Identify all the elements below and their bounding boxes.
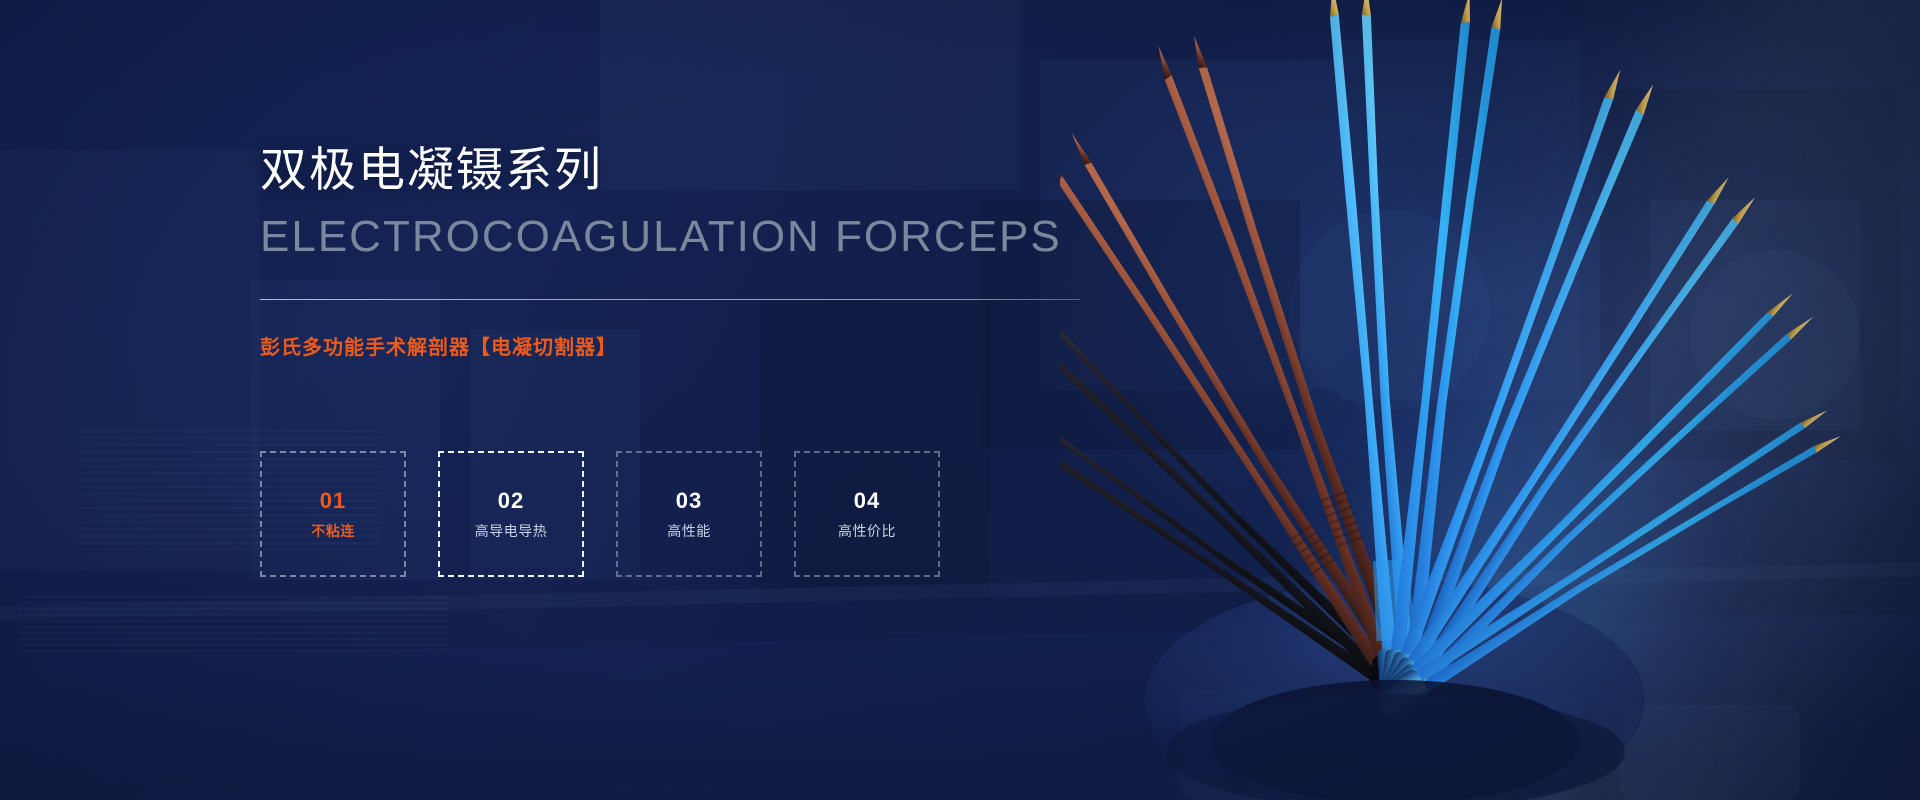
product-hero-banner: 双极电凝镊系列 ELECTROCOAGULATION FORCEPS 彭氏多功能… [0,0,1920,800]
feature-number: 04 [854,490,880,512]
feature-label: 高性价比 [838,524,896,538]
forceps-illustration [1060,0,1920,800]
feature-number: 03 [676,490,702,512]
feature-number: 01 [320,490,346,512]
feature-item-01[interactable]: 01 不粘连 [260,451,406,577]
page-subtitle-english: ELECTROCOAGULATION FORCEPS [260,215,1062,259]
product-tagline: 彭氏多功能手术解剖器【电凝切割器】 [260,338,617,358]
feature-label: 高导电导热 [475,524,548,538]
page-title: 双极电凝镊系列 [260,146,603,193]
divider-line [260,299,1080,300]
product-image-forceps-fan [1060,0,1920,800]
feature-number: 02 [498,490,524,512]
feature-list: 01 不粘连 02 高导电导热 03 高性能 04 高性价比 [260,451,940,577]
feature-item-03[interactable]: 03 高性能 [616,451,762,577]
feature-item-04[interactable]: 04 高性价比 [794,451,940,577]
feature-label: 不粘连 [311,524,355,538]
hero-text-content: 双极电凝镊系列 ELECTROCOAGULATION FORCEPS 彭氏多功能… [260,0,1160,800]
feature-item-02[interactable]: 02 高导电导热 [438,451,584,577]
feature-label: 高性能 [667,524,711,538]
